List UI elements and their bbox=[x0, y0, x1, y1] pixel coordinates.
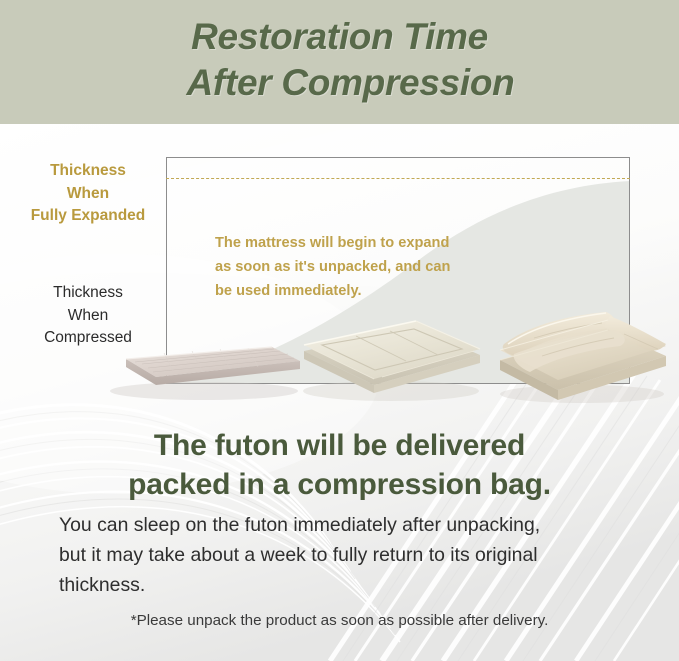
flat-futon-image bbox=[296, 299, 486, 404]
full-expanded-dashed-line bbox=[166, 178, 630, 179]
title-line-1: Restoration Time bbox=[0, 14, 679, 60]
label-expanded-line-3: Fully Expanded bbox=[31, 207, 146, 224]
fluffy-futon-image bbox=[494, 294, 670, 406]
body-line-2-highlighted: but it may take about a week to fully re… bbox=[59, 540, 624, 570]
label-expanded-line-1: Thickness bbox=[50, 162, 126, 179]
callout-line-1: The mattress will begin to expand bbox=[215, 231, 515, 255]
compressed-mattress-image bbox=[104, 333, 304, 403]
headline-line-1: The futon will be delivered bbox=[0, 426, 679, 465]
bottom-message-section: The futon will be delivered packed in a … bbox=[0, 414, 679, 661]
label-expanded-line-2: When bbox=[67, 185, 109, 202]
body-paragraph: You can sleep on the futon immediately a… bbox=[59, 510, 624, 600]
title-line-2: After Compression bbox=[0, 60, 679, 106]
label-thickness-fully-expanded: Thickness When Fully Expanded bbox=[12, 160, 164, 228]
thickness-diagram: Thickness When Fully Expanded Thickness … bbox=[0, 124, 679, 414]
header-banner: Restoration Time After Compression bbox=[0, 0, 679, 124]
callout-line-2: as soon as it's unpacked, and can bbox=[215, 255, 515, 279]
footnote-text: *Please unpack the product as soon as po… bbox=[0, 610, 679, 632]
headline-line-2: packed in a compression bag. bbox=[0, 465, 679, 504]
body-line-1: You can sleep on the futon immediately a… bbox=[59, 510, 624, 540]
label-compressed-line-2: When bbox=[68, 307, 109, 324]
expansion-callout-text: The mattress will begin to expand as soo… bbox=[215, 231, 515, 303]
label-compressed-line-1: Thickness bbox=[53, 284, 123, 301]
body-line-3-highlighted: thickness. bbox=[59, 570, 624, 600]
page-title: Restoration Time After Compression bbox=[0, 14, 679, 106]
delivery-headline: The futon will be delivered packed in a … bbox=[0, 426, 679, 504]
infographic-root: Restoration Time After Compression bbox=[0, 0, 679, 661]
